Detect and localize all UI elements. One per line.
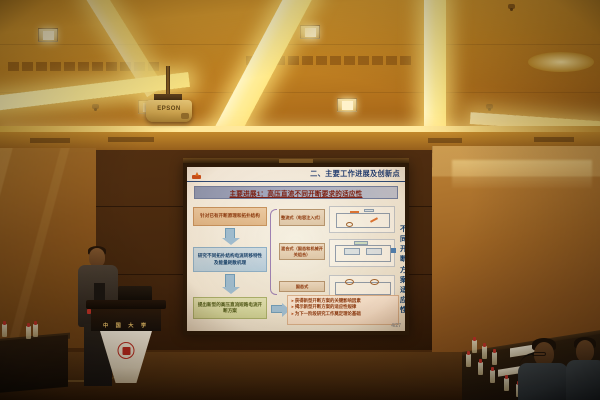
speaker-podium: 中 国 大 学 [86, 300, 166, 390]
circuit-diagram-hybrid [329, 239, 395, 267]
podium-front-face: 中 国 大 学 [91, 309, 161, 331]
projection-screen: 二、主要工作进展及创新点 主要进展1：高压直流不同开断要求的适应性 针对已有开断… [183, 163, 409, 335]
circuit-diagram-rectifier [329, 206, 395, 233]
ceiling-downlight [337, 98, 357, 112]
water-bottle [490, 370, 495, 383]
slide-header: 二、主要工作进展及创新点 [187, 167, 405, 182]
person-head [576, 340, 594, 362]
bullet-item: 为下一阶段研究工作奠定理论基础 [291, 311, 395, 317]
podium-plaque-text: 中 国 大 学 [91, 322, 161, 329]
conclusion-bullets: 获得新型开断方案的关键影响因素 揭示新型开断方案的适应性规律 为下一阶段研究工作… [287, 295, 399, 325]
projector-brand-label: EPSON [146, 106, 192, 112]
sprinkler-head [92, 104, 99, 109]
eyeglasses-icon [532, 352, 546, 356]
flow-box-proposal: 提出新型的高压直流短路电流开断方案 [193, 297, 267, 319]
projector-mount-pole [166, 66, 170, 96]
podium-top-surface [86, 300, 166, 309]
flow-box-premise: 针对已有开断原理和拓扑结构 [193, 207, 267, 226]
water-bottle [492, 352, 497, 365]
university-crest-icon [118, 342, 135, 359]
water-bottle [2, 324, 7, 337]
water-bottle [482, 346, 487, 359]
ceiling-recessed-light [528, 52, 594, 72]
right-arrow-icon [271, 305, 283, 313]
water-bottle [26, 326, 31, 339]
slide-banner-text: 主要进展1：高压直流不同开断要求的适应性 [230, 188, 363, 198]
connector-tick [391, 248, 396, 253]
projector-lens [181, 113, 189, 119]
sprinkler-head [508, 4, 515, 9]
down-arrow-icon [225, 228, 235, 240]
water-bottle [33, 324, 38, 337]
water-bottle [478, 362, 483, 375]
presentation-slide: 二、主要工作进展及创新点 主要进展1：高压直流不同开断要求的适应性 针对已有开断… [187, 167, 405, 331]
institution-logo-icon [190, 169, 203, 180]
topology-label-rectifier: 整流式（电容注入式） [279, 209, 325, 226]
water-bottle [472, 340, 477, 353]
left-table [0, 335, 68, 393]
water-bottle [466, 354, 471, 367]
ceiling-projector: EPSON [146, 100, 192, 122]
sprinkler-head [486, 104, 493, 109]
brace-bracket [270, 209, 277, 295]
wall-reflection [452, 160, 592, 188]
down-arrow-icon [225, 274, 235, 289]
topology-label-hybrid: 混合式（固态和机械开关组合） [279, 243, 325, 260]
audience-person [566, 338, 600, 400]
ceiling-downlight [300, 25, 320, 39]
person-torso [566, 360, 600, 400]
audience-person [518, 336, 568, 400]
flow-box-research: 研究不同拓扑结构电流转移特性及能量耗散机理 [193, 247, 267, 272]
ceiling [0, 0, 600, 132]
conference-room-photo: EPSON 二、主要工作进展及创新点 主要进展1：高压直流不同开断要求的适应性 [0, 0, 600, 400]
slide-banner: 主要进展1：高压直流不同开断要求的适应性 [194, 186, 398, 199]
slide-diagram-body: 针对已有开断原理和拓扑结构 研究不同拓扑结构电流转移特性及能量耗散机理 提出新型… [187, 203, 405, 323]
ceiling-downlight [38, 28, 58, 42]
slide-page-number: 4/27 [391, 323, 401, 329]
ceiling-light-strip [424, 0, 446, 136]
person-torso [518, 363, 568, 400]
topology-label-solidstate: 固态式 [279, 281, 325, 292]
water-bottle [504, 378, 509, 391]
slide-header-title: 二、主要工作进展及创新点 [310, 169, 402, 179]
